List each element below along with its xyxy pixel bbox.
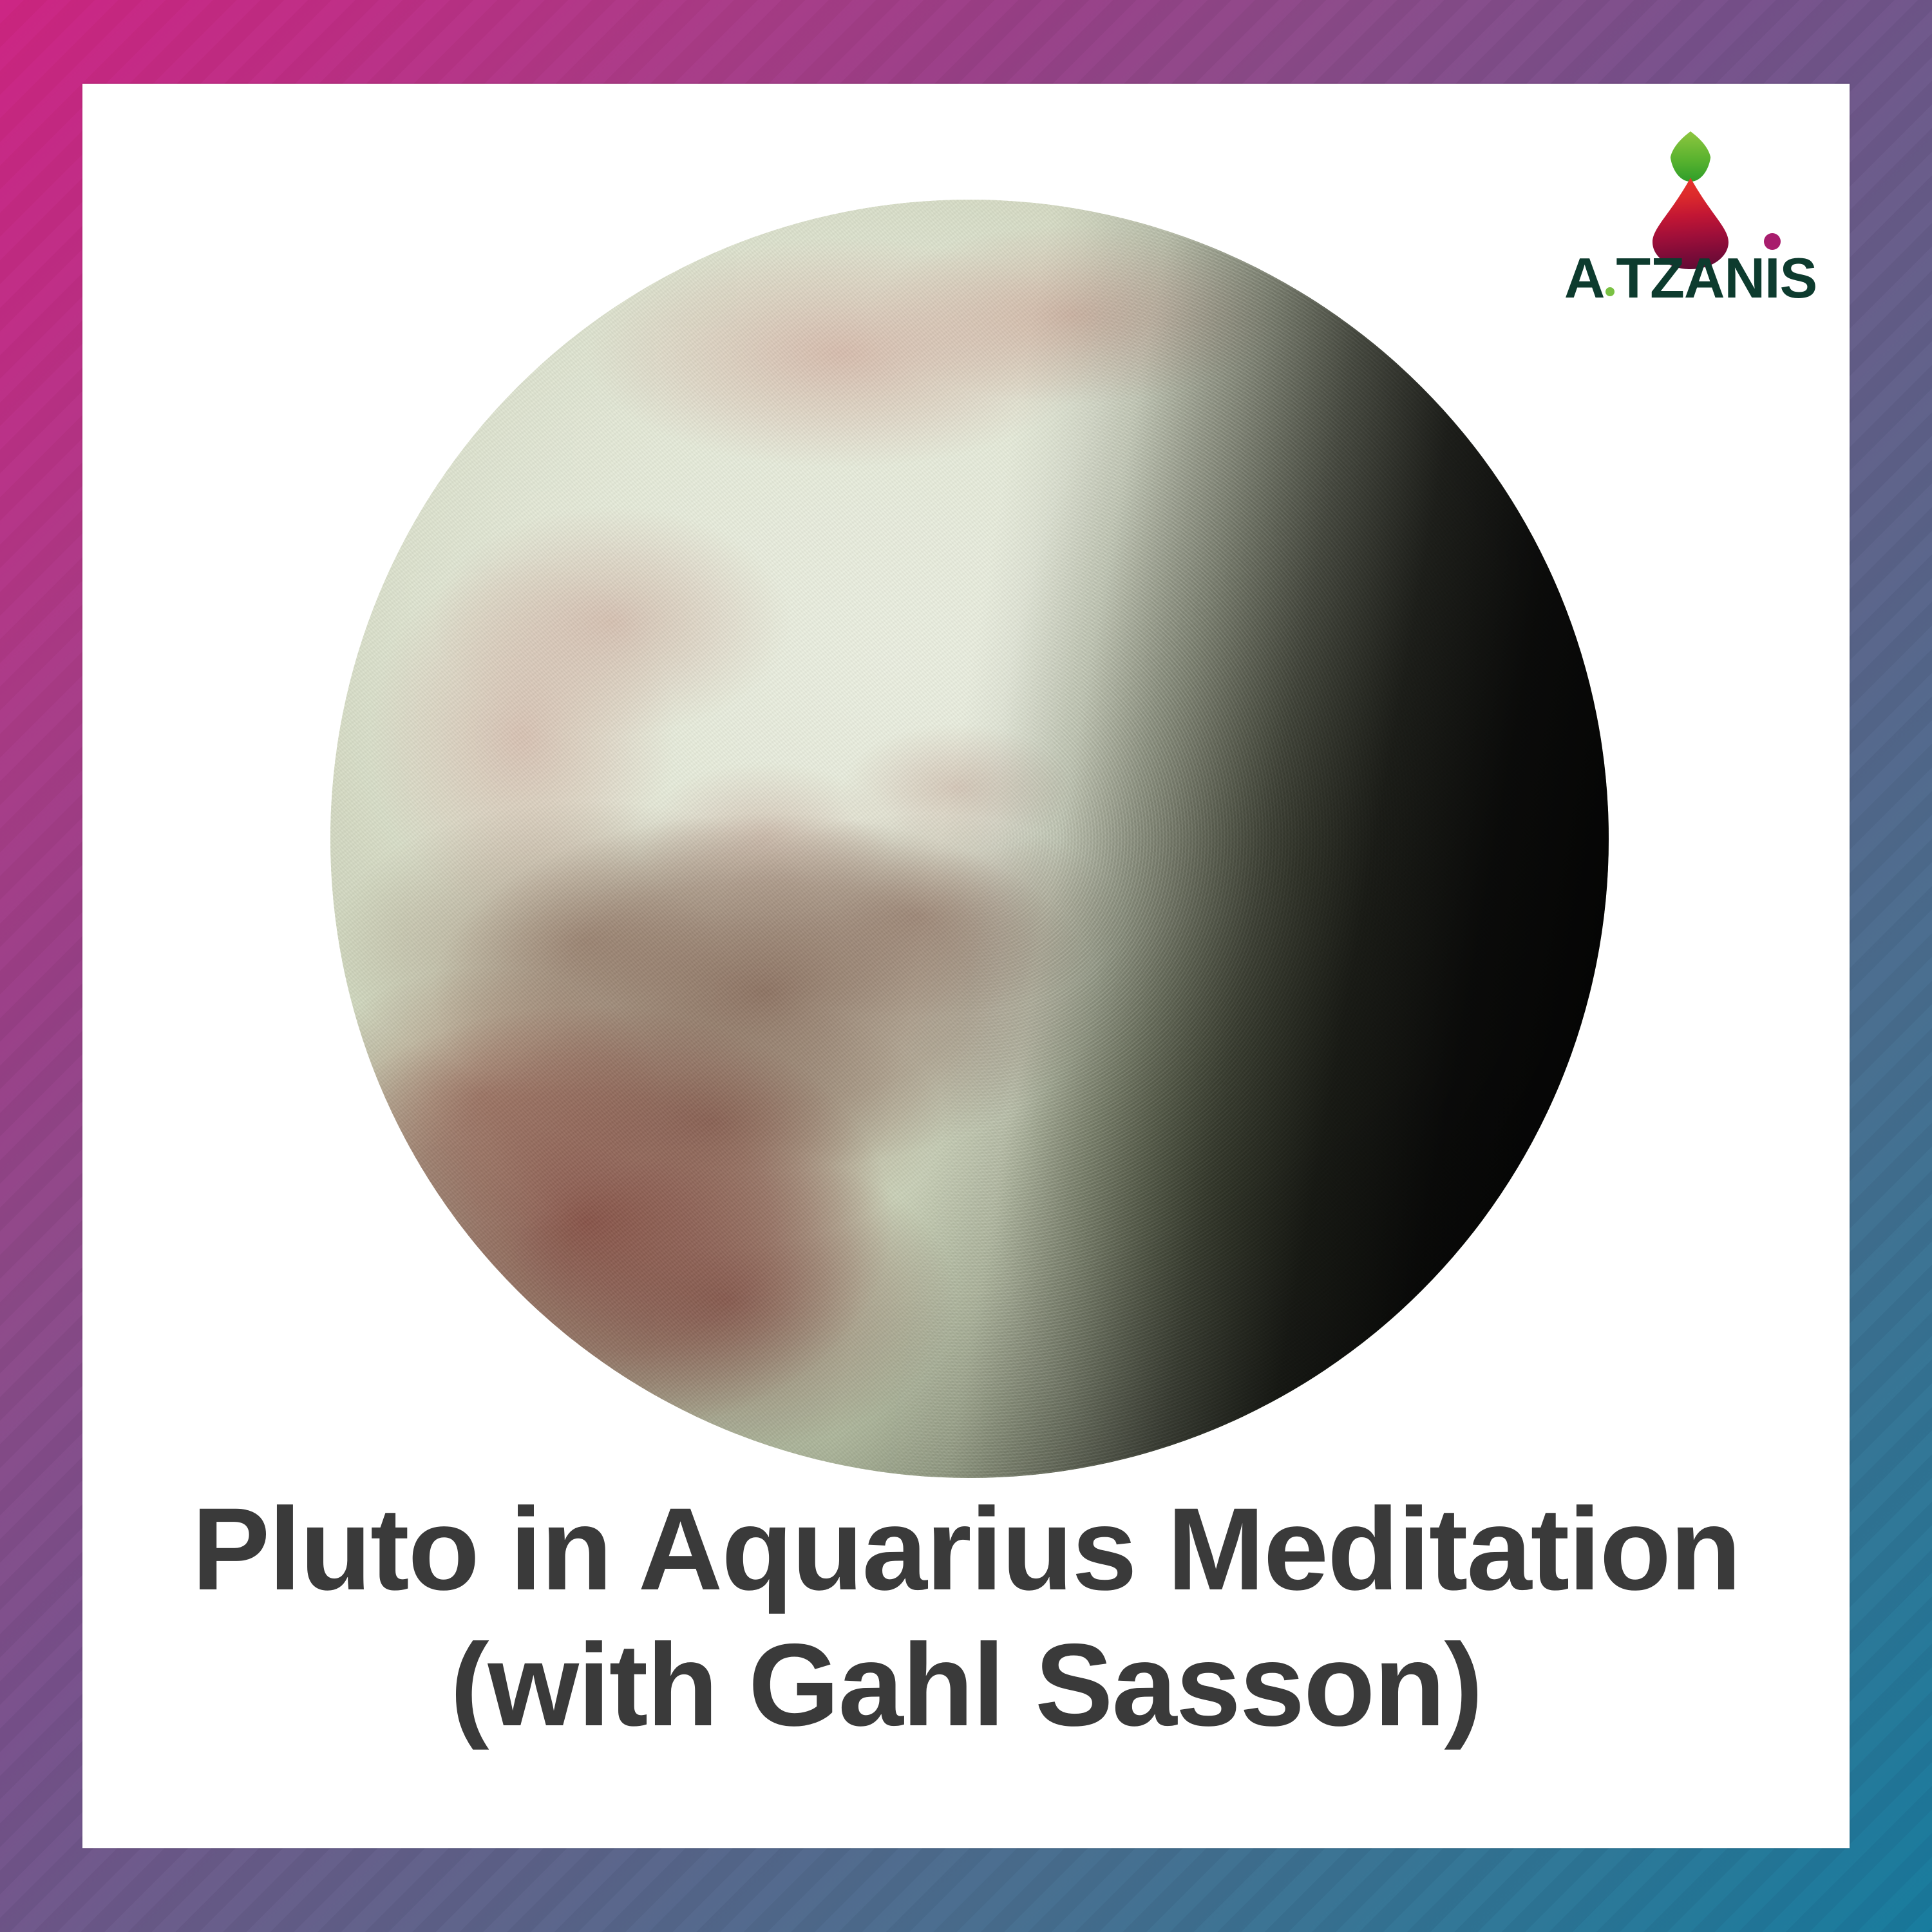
- white-card: ATZANIS Pluto in Aquarius Meditation (wi…: [82, 84, 1850, 1848]
- podcast-cover-artwork: ATZANIS Pluto in Aquarius Meditation (wi…: [0, 0, 1932, 1932]
- planet-limb-darkening: [330, 200, 1609, 1478]
- pluto-planet-image: [330, 200, 1609, 1478]
- episode-title-line-2: (with Gahl Sasson): [121, 1617, 1811, 1753]
- episode-title-line-1: Pluto in Aquarius Meditation: [121, 1481, 1811, 1617]
- planet-image-stage: [82, 84, 1850, 1468]
- episode-title: Pluto in Aquarius Meditation (with Gahl …: [82, 1481, 1850, 1753]
